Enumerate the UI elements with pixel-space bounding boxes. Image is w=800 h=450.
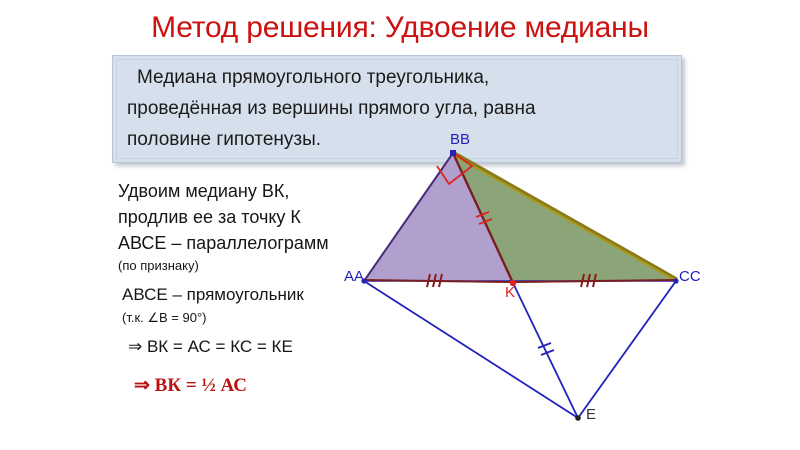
edge-ab <box>364 153 453 281</box>
segment-ak <box>364 280 513 282</box>
reasoning-line-3: АВСЕ – параллелограмм <box>118 230 368 256</box>
vertex-label-e: E <box>586 406 596 423</box>
tick-marks-kc <box>581 274 596 287</box>
segment-ae <box>364 281 578 418</box>
reasoning-line-1: Удвоим медиану ВК, <box>118 178 368 204</box>
page-title: Метод решения: Удвоение медианы <box>0 11 800 45</box>
reasoning-line-6: (т.к. ∠В = 90°) <box>118 308 368 327</box>
statement-line-2: проведённая из вершины прямого угла, рав… <box>127 93 667 124</box>
tick-marks-ak <box>427 274 442 287</box>
reasoning-line-7: ⇒ ВК = АС = КС = КЕ <box>118 333 368 360</box>
triangle-abk-fill <box>364 153 513 283</box>
segment-ce <box>578 281 676 418</box>
statement-line-3: половине гипотенузы. <box>127 124 667 155</box>
vertex-label-a: AA <box>344 268 364 285</box>
segment-ke <box>513 283 578 418</box>
edge-bc-olive-outer <box>453 152 677 279</box>
reasoning-steps: Удвоим медиану ВК, продлив ее за точку К… <box>118 178 368 401</box>
vertex-label-c: CC <box>679 268 701 285</box>
triangle-bkc-fill <box>453 153 676 283</box>
vertex-label-b: BB <box>450 131 470 148</box>
reasoning-line-4: (по признаку) <box>118 256 368 275</box>
segment-kc <box>513 280 676 282</box>
edge-bc-olive-inner <box>455 156 678 282</box>
theorem-statement-text: Медиана прямоугольного треугольника, про… <box>127 62 667 155</box>
theorem-statement-box: Медиана прямоугольного треугольника, про… <box>112 55 682 163</box>
median-bk <box>453 153 513 283</box>
reasoning-line-2: продлив ее за точку К <box>118 204 368 230</box>
vertex-label-k: K <box>505 284 515 301</box>
reasoning-conclusion: ⇒ ВК = ½ АС <box>118 371 368 401</box>
vertex-dot-c <box>673 278 678 283</box>
tick-marks-bk <box>476 212 492 224</box>
statement-line-1: Медиана прямоугольного треугольника, <box>127 62 667 93</box>
reasoning-line-5: АВСЕ – прямоугольник <box>118 281 368 308</box>
tick-marks-ke <box>538 343 554 355</box>
slide-canvas: Метод решения: Удвоение медианы Медиана … <box>0 0 800 450</box>
vertex-dot-e <box>575 415 581 421</box>
